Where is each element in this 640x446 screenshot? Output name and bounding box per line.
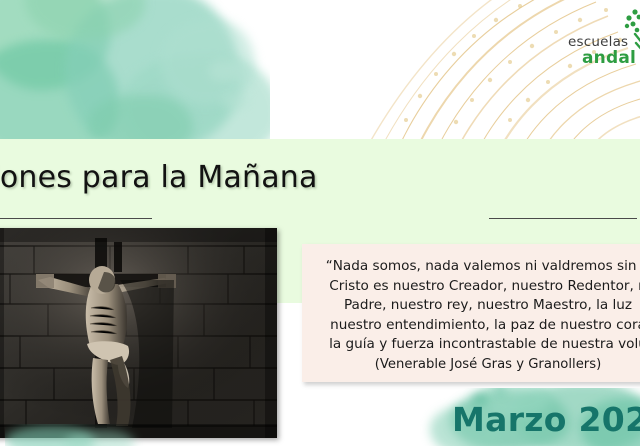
page-title: aciones para la Mañana (0, 160, 640, 195)
crucifix-photo (0, 228, 277, 438)
quote-line: “Nada somos, nada valemos ni valdremos s… (302, 257, 640, 277)
logo-text: escuelas andal (568, 34, 628, 50)
slide-canvas: escuelas andal aciones para la Mañana (0, 0, 640, 446)
divider-left (0, 218, 152, 219)
logo-line-2: andal (582, 50, 636, 67)
watercolor-top-left (0, 0, 270, 150)
logo[interactable]: escuelas andal (568, 12, 640, 70)
month-label: Marzo 202 (452, 400, 640, 439)
divider-right (489, 218, 637, 219)
quote-author: (Venerable José Gras y Granollers) (302, 357, 640, 372)
quote-line: nuestro entendimiento, la paz de nuestro… (302, 316, 640, 336)
watercolor-bottom-left (5, 424, 155, 446)
quote-line: la guía y fuerza incontrastable de nuest… (302, 335, 640, 355)
quote-line: Padre, nuestro rey, nuestro Maestro, la … (302, 296, 640, 316)
quote-line: Cristo es nuestro Creador, nuestro Reden… (302, 277, 640, 297)
quote-text: “Nada somos, nada valemos ni valdremos s… (302, 257, 640, 355)
quote-box: “Nada somos, nada valemos ni valdremos s… (302, 244, 640, 382)
